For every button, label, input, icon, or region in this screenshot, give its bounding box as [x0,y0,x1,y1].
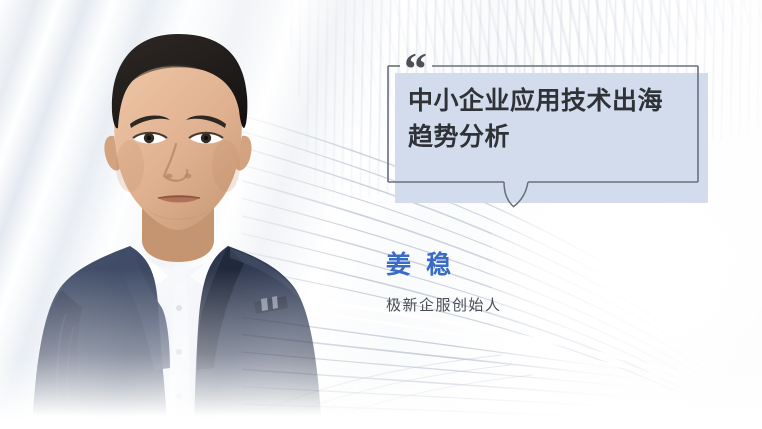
speaker-name: 姜 稳 [386,250,686,280]
speaker-title: 极新企服创始人 [386,296,686,316]
quote-line-1: 中小企业应用技术出海 [408,84,698,120]
quote-bubble-text: 中小企业应用技术出海 趋势分析 [408,84,698,155]
speaker-portrait [18,8,348,429]
speaker-info: 姜 稳 极新企服创始人 [386,250,686,316]
presentation-slide: “ 中小企业应用技术出海 趋势分析 姜 稳 极新企服创始人 [0,0,762,429]
quote-bubble: “ 中小企业应用技术出海 趋势分析 [386,60,710,208]
quote-line-2: 趋势分析 [408,120,698,156]
